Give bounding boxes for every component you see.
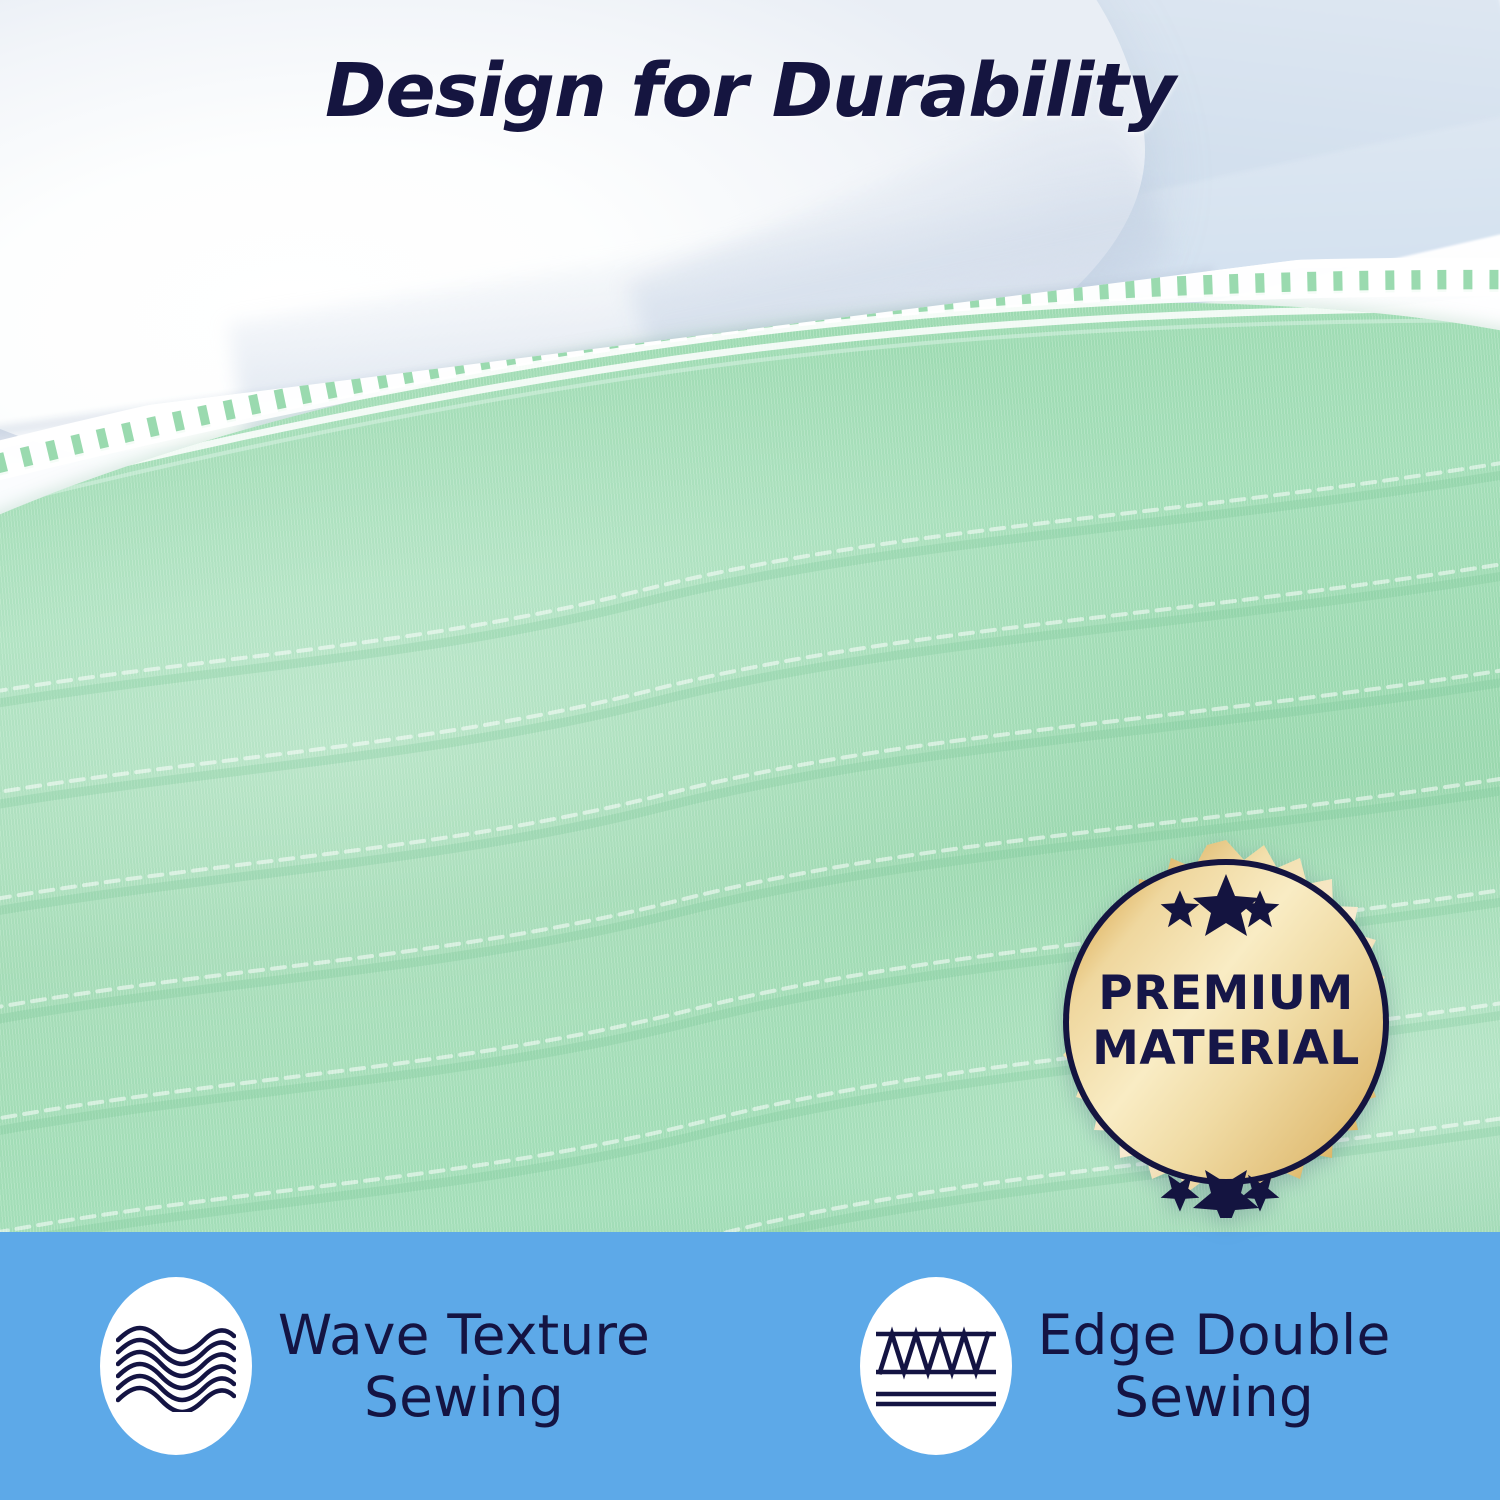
- wave-lines-icon: [100, 1277, 252, 1455]
- feature-footer-band: Wave Texture Sewing Edge Double Sewi: [0, 1232, 1500, 1500]
- feature-label-wave-texture-sewing: Wave Texture Sewing: [278, 1304, 650, 1428]
- feature-list: Wave Texture Sewing Edge Double Sewi: [0, 1232, 1500, 1500]
- premium-material-badge: PREMIUM MATERIAL: [1030, 826, 1422, 1218]
- zigzag-stitch-glyph: [876, 1320, 996, 1412]
- product-feature-image: Design for Durability: [0, 0, 1500, 1500]
- feature-edge-double-sewing: Edge Double Sewing: [750, 1277, 1500, 1455]
- zigzag-stitch-icon: [860, 1277, 1012, 1455]
- feature-label-edge-double-sewing: Edge Double Sewing: [1038, 1304, 1391, 1428]
- page-title: Design for Durability: [0, 48, 1500, 134]
- feature-wave-texture-sewing: Wave Texture Sewing: [0, 1277, 750, 1455]
- wave-lines-glyph: [116, 1320, 236, 1412]
- badge-seal-shape: [1030, 826, 1422, 1218]
